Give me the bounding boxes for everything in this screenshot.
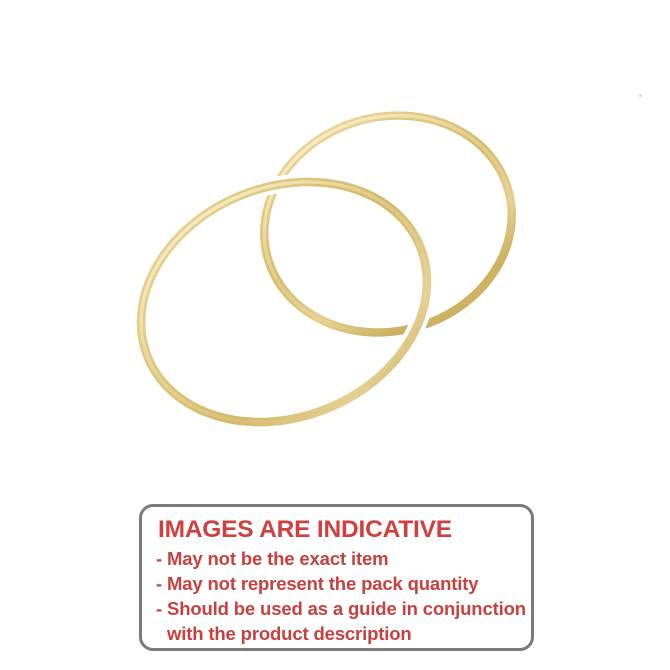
disclaimer-heading: IMAGES ARE INDICATIVE <box>158 515 531 545</box>
disclaimer-line-4: with the product description <box>167 621 531 646</box>
disclaimer-box: IMAGES ARE INDICATIVE - May not be the e… <box>139 504 534 651</box>
disclaimer-line-3: - Should be used as a guide in conjuncti… <box>156 596 531 621</box>
disclaimer-line-1: - May not be the exact item <box>156 546 531 571</box>
front-o-ring <box>105 140 464 463</box>
back-o-ring <box>238 87 537 362</box>
disclaimer-line-2: - May not represent the pack quantity <box>156 571 531 596</box>
disclaimer-list: - May not be the exact item - May not re… <box>154 546 531 646</box>
stray-speck <box>639 94 642 97</box>
